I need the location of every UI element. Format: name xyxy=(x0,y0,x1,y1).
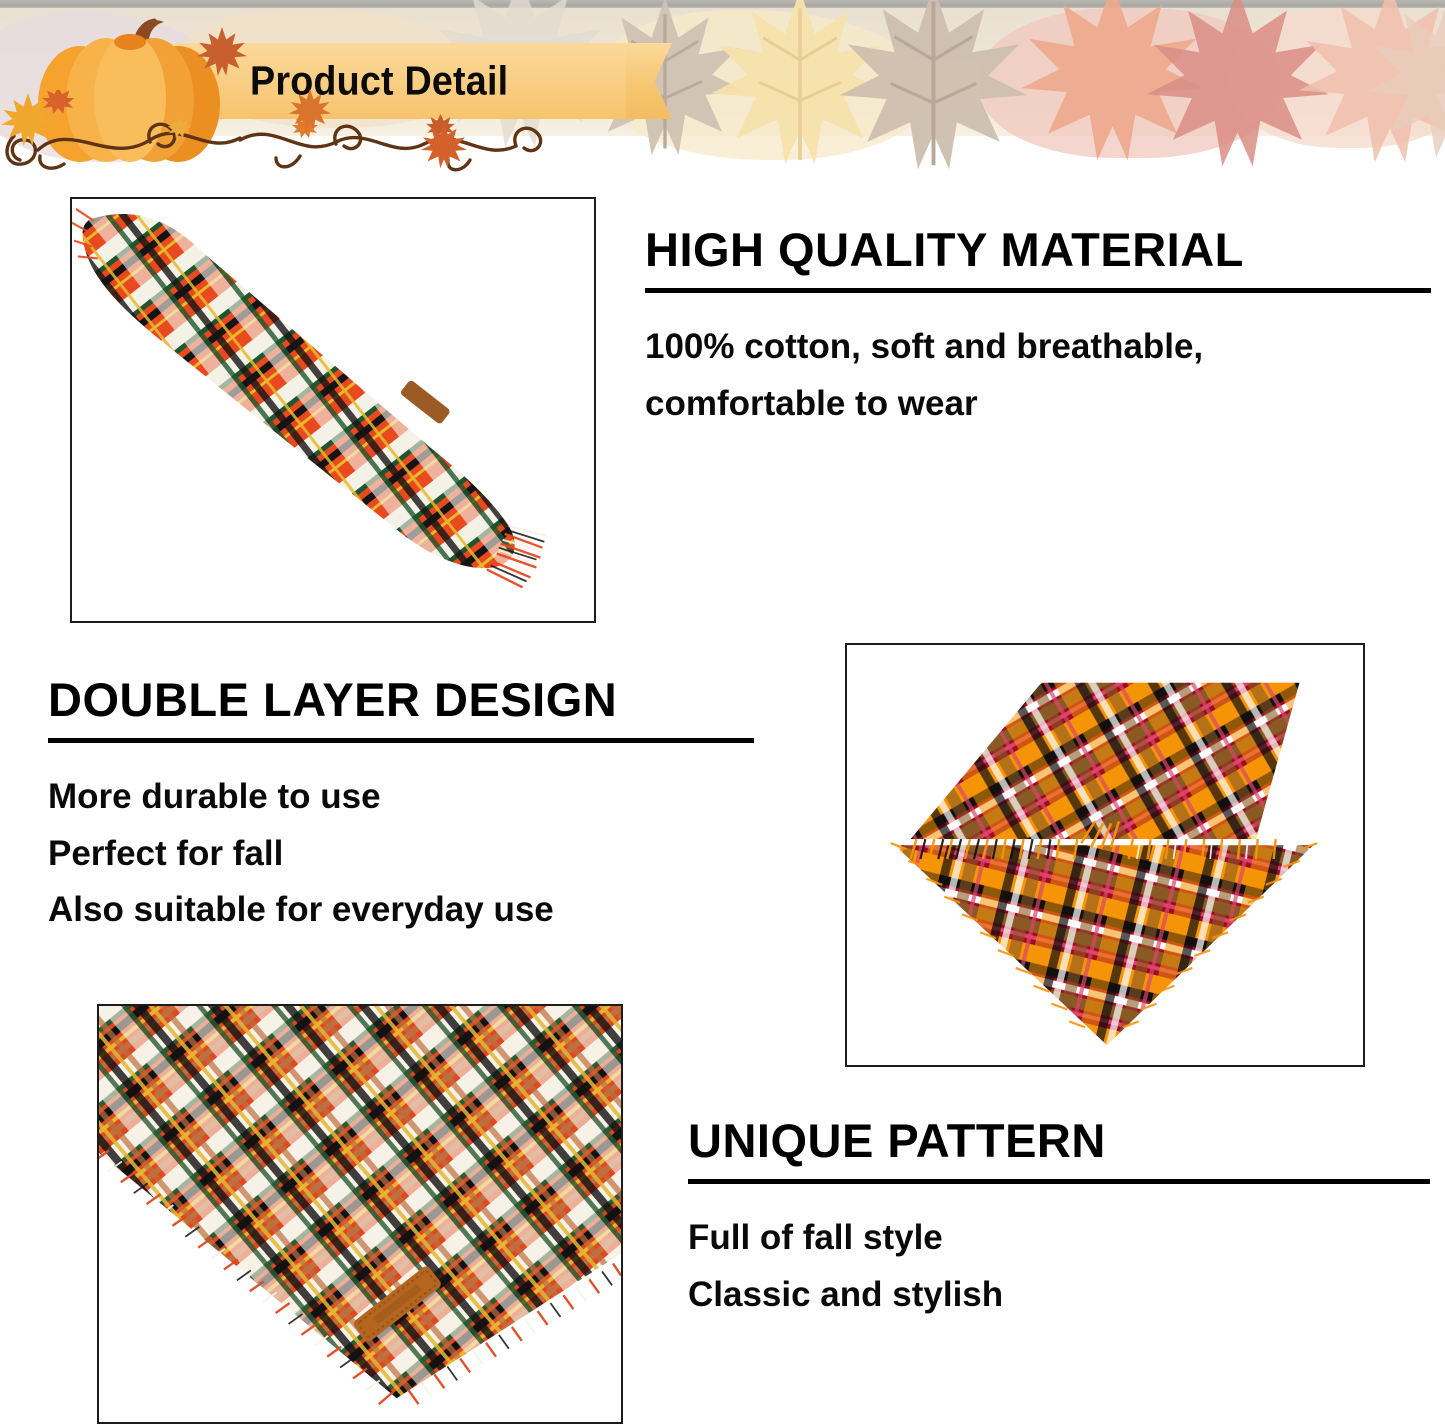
section-heading: HIGH QUALITY MATERIAL xyxy=(645,226,1431,274)
body-line: Classic and stylish xyxy=(688,1267,1430,1324)
folded-bandana-image xyxy=(847,645,1363,1065)
section-double-layer-design: DOUBLE LAYER DESIGN More durable to use … xyxy=(48,676,754,939)
maple-leaf-icon xyxy=(0,92,56,148)
product-photo-folded-bandana xyxy=(845,643,1365,1067)
product-photo-rolled-scarf xyxy=(70,197,596,623)
section-unique-pattern: UNIQUE PATTERN Full of fall style Classi… xyxy=(688,1117,1430,1323)
maple-leaf-icon xyxy=(288,88,332,132)
maple-leaf-icon xyxy=(196,26,248,78)
section-body: 100% cotton, soft and breathable, comfor… xyxy=(645,319,1431,432)
product-photo-flat-plaid-corner xyxy=(97,1004,623,1424)
body-line: Also suitable for everyday use xyxy=(48,882,754,939)
body-line: comfortable to wear xyxy=(645,376,1431,433)
vine-swirl-icon xyxy=(0,90,560,178)
maple-leaf-icon xyxy=(826,0,1041,177)
heading-rule xyxy=(645,288,1431,293)
maple-leaf-icon xyxy=(420,122,468,170)
section-high-quality-material: HIGH QUALITY MATERIAL 100% cotton, soft … xyxy=(645,226,1431,432)
section-heading: DOUBLE LAYER DESIGN xyxy=(48,676,754,724)
heading-rule xyxy=(688,1179,1430,1184)
flat-plaid-image xyxy=(99,1006,621,1422)
section-body: Full of fall style Classic and stylish xyxy=(688,1210,1430,1323)
page-header: Product Detail xyxy=(0,0,1445,178)
section-heading: UNIQUE PATTERN xyxy=(688,1117,1430,1165)
body-line: Full of fall style xyxy=(688,1210,1430,1267)
rolled-scarf-image xyxy=(72,199,594,621)
body-line: Perfect for fall xyxy=(48,826,754,883)
body-line: More durable to use xyxy=(48,769,754,826)
heading-rule xyxy=(48,738,754,743)
section-body: More durable to use Perfect for fall Als… xyxy=(48,769,754,939)
body-line: 100% cotton, soft and breathable, xyxy=(645,319,1431,376)
maple-leaf-icon xyxy=(1360,0,1445,165)
